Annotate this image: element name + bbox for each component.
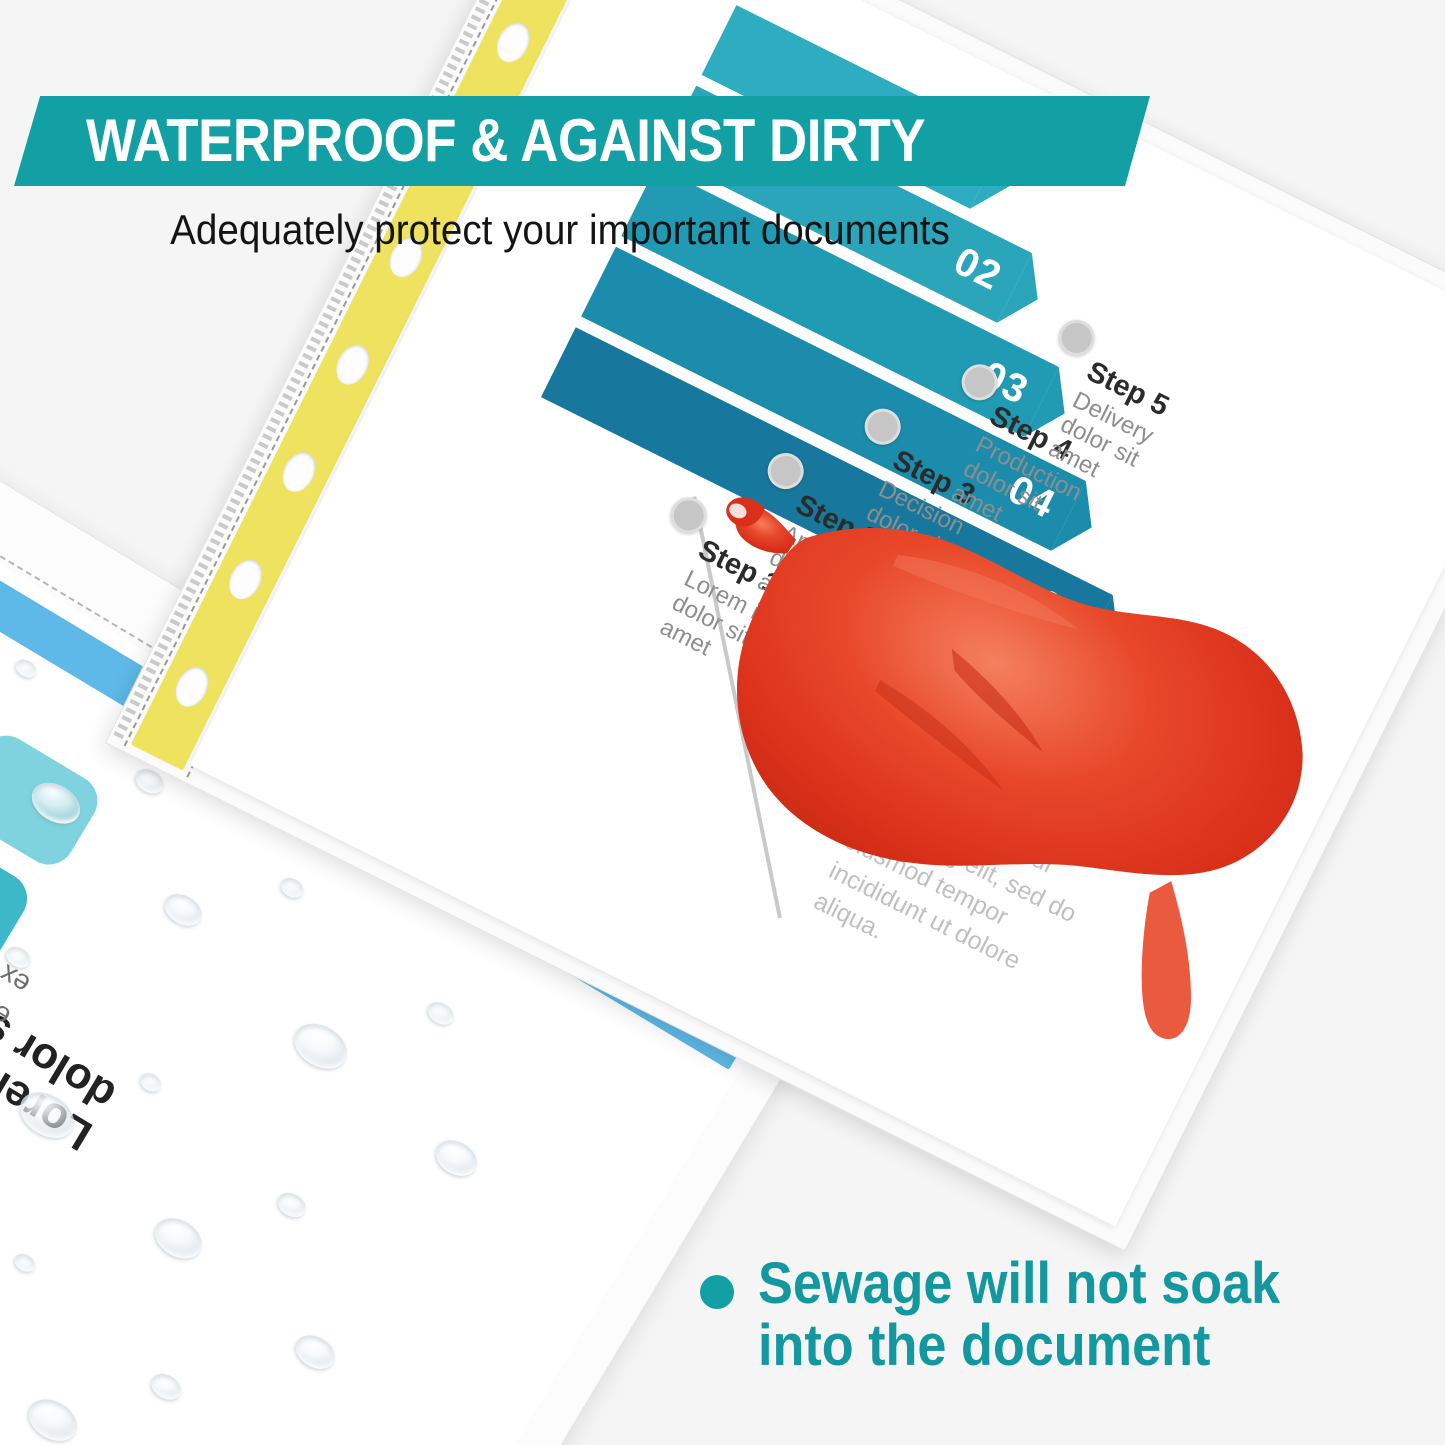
banner-title: WATERPROOF & AGAINST DIRTY <box>86 111 925 171</box>
callout-line1: Sewage will not soak <box>758 1251 1280 1316</box>
feature-callout: Sewage will not soak into the document <box>700 1253 1420 1377</box>
callout-text: Sewage will not soak into the document <box>758 1253 1280 1377</box>
header-banner: WATERPROOF & AGAINST DIRTY <box>14 96 1150 186</box>
header-subtitle: Adequately protect your important docume… <box>45 206 1075 254</box>
product-image-stage: ★ Step Lorem ipsum dolor sit dolor sitam… <box>0 0 1445 1445</box>
timeline-node <box>665 491 713 539</box>
bullet-icon <box>700 1275 734 1309</box>
left-badge-1 <box>0 726 107 874</box>
callout-line2: into the document <box>758 1313 1210 1378</box>
